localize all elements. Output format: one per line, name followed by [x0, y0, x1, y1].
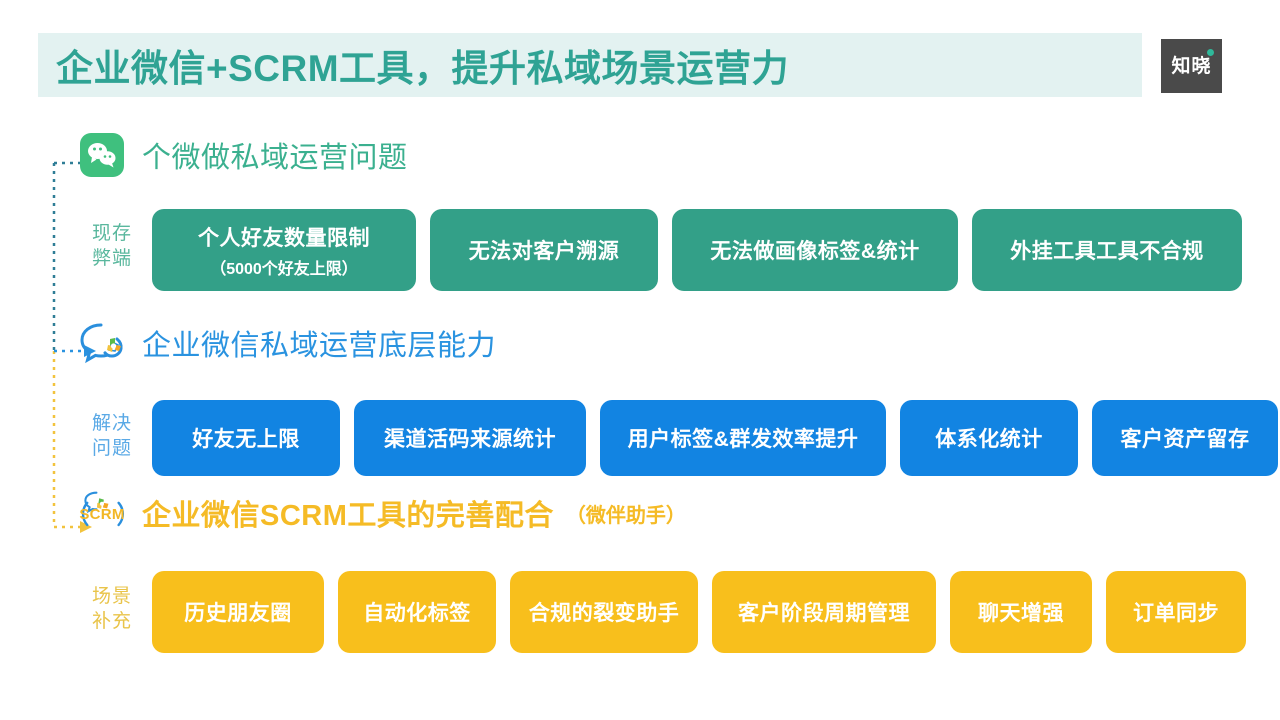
card-item[interactable]: 外挂工具工具不合规: [972, 209, 1242, 291]
card-item[interactable]: 个人好友数量限制 （5000个好友上限）: [152, 209, 416, 291]
brand-dot-icon: [1207, 49, 1214, 56]
card-item[interactable]: 无法做画像标签&统计: [672, 209, 958, 291]
card-title: 体系化统计: [935, 423, 1043, 453]
card-title: 客户资产留存: [1121, 423, 1250, 453]
card-title: 聊天增强: [978, 597, 1064, 627]
brand-logo-label: 知晓: [1171, 57, 1211, 76]
brand-logo: 知晓: [1161, 39, 1222, 93]
card-subtitle: （5000个好友上限）: [210, 255, 358, 279]
card-item[interactable]: 聊天增强: [950, 571, 1092, 653]
card-title: 历史朋友圈: [184, 597, 292, 627]
row-label-scenario-supplement: 场景 补充: [80, 584, 144, 634]
card-item[interactable]: 渠道活码来源统计: [354, 400, 586, 476]
card-row-existing-issues: 个人好友数量限制 （5000个好友上限） 无法对客户溯源 无法做画像标签&统计 …: [152, 209, 1242, 291]
page-title: 企业微信+SCRM工具，提升私域场景运营力: [56, 38, 789, 92]
section-title: 企业微信私域运营底层能力: [142, 322, 496, 364]
row-label-line-2: 问题: [80, 436, 144, 461]
card-title: 自动化标签: [363, 597, 471, 627]
row-label-line-1: 场景: [80, 584, 144, 609]
card-title: 外挂工具工具不合规: [1010, 235, 1204, 265]
card-title: 渠道活码来源统计: [384, 423, 556, 453]
section-wecom-capability: 企业微信私域运营底层能力: [78, 318, 496, 368]
card-item[interactable]: 无法对客户溯源: [430, 209, 658, 291]
card-item[interactable]: 合规的裂变助手: [510, 571, 698, 653]
row-label-line-2: 弊端: [80, 246, 144, 271]
section-scrm-tools: SCRM 企业微信SCRM工具的完善配合 （微伴助手）: [78, 488, 686, 538]
card-title: 好友无上限: [192, 423, 300, 453]
card-title: 合规的裂变助手: [529, 597, 680, 627]
card-item[interactable]: 历史朋友圈: [152, 571, 324, 653]
section-header: SCRM 企业微信SCRM工具的完善配合 （微伴助手）: [78, 488, 686, 538]
card-title: 用户标签&群发效率提升: [628, 423, 859, 453]
section-title: 企业微信SCRM工具的完善配合: [142, 492, 554, 534]
card-title: 个人好友数量限制: [198, 222, 370, 252]
row-label-line-1: 解决: [80, 411, 144, 436]
wecom-icon: [78, 319, 126, 367]
card-title: 订单同步: [1133, 597, 1219, 627]
card-item[interactable]: 体系化统计: [900, 400, 1078, 476]
scrm-icon: SCRM: [78, 489, 126, 537]
card-title: 客户阶段周期管理: [738, 597, 910, 627]
section-header: 个微做私域运营问题: [78, 130, 408, 180]
row-label-line-2: 补充: [80, 609, 144, 634]
card-title: 无法做画像标签&统计: [710, 235, 919, 265]
card-item[interactable]: 用户标签&群发效率提升: [600, 400, 886, 476]
row-label-solutions: 解决 问题: [80, 411, 144, 461]
card-item[interactable]: 客户阶段周期管理: [712, 571, 936, 653]
section-wechat-personal: 个微做私域运营问题: [78, 130, 408, 180]
card-item[interactable]: 订单同步: [1106, 571, 1246, 653]
section-header: 企业微信私域运营底层能力: [78, 318, 496, 368]
card-row-scenario-supplement: 历史朋友圈 自动化标签 合规的裂变助手 客户阶段周期管理 聊天增强 订单同步: [152, 571, 1246, 653]
card-row-solutions: 好友无上限 渠道活码来源统计 用户标签&群发效率提升 体系化统计 客户资产留存: [152, 400, 1278, 476]
wechat-icon: [78, 131, 126, 179]
section-title: 个微做私域运营问题: [142, 134, 408, 176]
header-banner: 企业微信+SCRM工具，提升私域场景运营力: [38, 33, 1142, 97]
card-title: 无法对客户溯源: [469, 235, 620, 265]
card-item[interactable]: 自动化标签: [338, 571, 496, 653]
card-item[interactable]: 好友无上限: [152, 400, 340, 476]
card-item[interactable]: 客户资产留存: [1092, 400, 1278, 476]
section-subtitle: （微伴助手）: [566, 499, 686, 528]
row-label-line-1: 现存: [80, 221, 144, 246]
scrm-icon-label: SCRM: [78, 506, 126, 523]
row-label-existing-issues: 现存 弊端: [80, 221, 144, 271]
